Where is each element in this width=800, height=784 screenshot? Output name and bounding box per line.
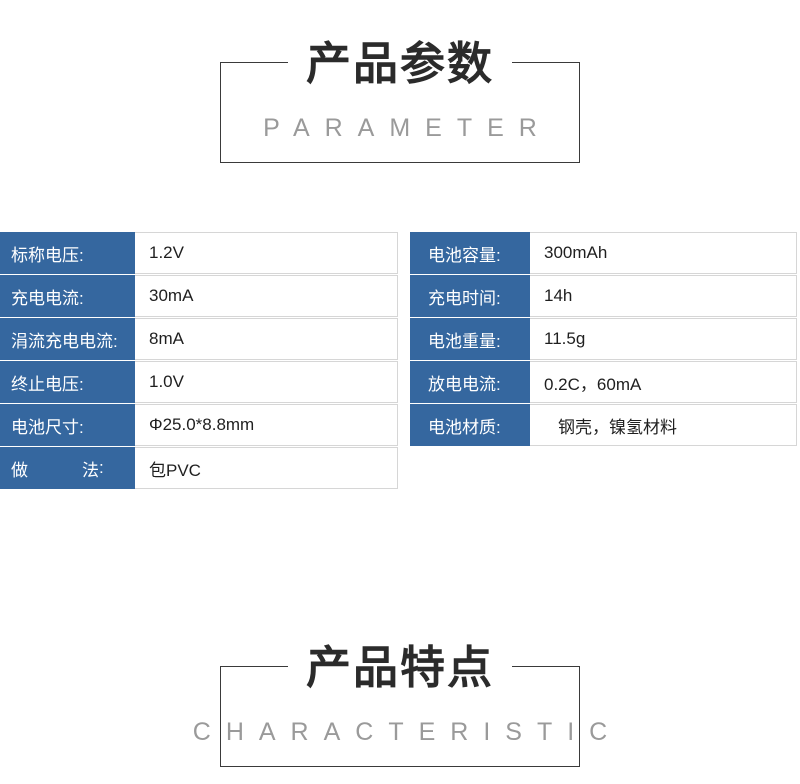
parameter-label: 放电电流: [410, 361, 530, 403]
parameter-label: 终止电压: [0, 361, 135, 403]
parameter-label: 电池尺寸: [0, 404, 135, 446]
characteristic-section-subtitle: CHARACTERISTIC [0, 716, 800, 748]
parameter-label: 充电时间: [410, 275, 530, 317]
parameter-pair-left: 做法: 包PVC [0, 447, 398, 489]
parameter-pair-left: 涓流充电电流: 8mA [0, 318, 398, 360]
table-row: 终止电压: 1.0V 放电电流: 0.2C，60mA [0, 361, 800, 403]
table-row: 充电电流: 30mA 充电时间: 14h [0, 275, 800, 317]
parameter-label: 做法: [0, 447, 135, 489]
parameter-value: 1.0V [135, 361, 398, 403]
table-row: 做法: 包PVC [0, 447, 800, 489]
parameter-pair-right: 电池容量: 300mAh [410, 232, 797, 274]
parameter-label: 电池材质: [410, 404, 530, 446]
parameter-pair-right: 放电电流: 0.2C，60mA [410, 361, 797, 403]
parameter-value: 0.2C，60mA [530, 361, 797, 403]
parameter-pair-left: 标称电压: 1.2V [0, 232, 398, 274]
parameter-value: 14h [530, 275, 797, 317]
parameter-value: 1.2V [135, 232, 398, 274]
parameter-pair-right: 电池重量: 11.5g [410, 318, 797, 360]
parameter-pair-right: 电池材质: 钢壳，镍氢材料 [410, 404, 797, 446]
parameter-value: 11.5g [530, 318, 797, 360]
parameter-section-header: 产品参数 PARAMETER [0, 0, 800, 180]
parameter-label: 电池容量: [410, 232, 530, 274]
parameter-value: 8mA [135, 318, 398, 360]
parameter-pair-left: 电池尺寸: Φ25.0*8.8mm [0, 404, 398, 446]
parameter-label: 充电电流: [0, 275, 135, 317]
parameter-value: 30mA [135, 275, 398, 317]
table-row: 电池尺寸: Φ25.0*8.8mm 电池材质: 钢壳，镍氢材料 [0, 404, 800, 446]
parameter-value: 300mAh [530, 232, 797, 274]
parameter-value: 包PVC [135, 447, 398, 489]
parameter-pair-left: 充电电流: 30mA [0, 275, 398, 317]
parameter-value: Φ25.0*8.8mm [135, 404, 398, 446]
characteristic-section-title: 产品特点 [0, 640, 800, 696]
parameter-table: 标称电压: 1.2V 电池容量: 300mAh 充电电流: 30mA 充电时间:… [0, 232, 800, 490]
table-row: 标称电压: 1.2V 电池容量: 300mAh [0, 232, 800, 274]
parameter-section-subtitle: PARAMETER [0, 112, 800, 144]
parameter-pair-left: 终止电压: 1.0V [0, 361, 398, 403]
characteristic-section-header: 产品特点 CHARACTERISTIC [0, 604, 800, 784]
parameter-label: 涓流充电电流: [0, 318, 135, 360]
parameter-section-title: 产品参数 [0, 36, 800, 92]
parameter-label: 电池重量: [410, 318, 530, 360]
parameter-value: 钢壳，镍氢材料 [530, 404, 797, 446]
parameter-label-core: 做法 [11, 456, 99, 481]
parameter-label: 标称电压: [0, 232, 135, 274]
parameter-pair-right: 充电时间: 14h [410, 275, 797, 317]
table-row: 涓流充电电流: 8mA 电池重量: 11.5g [0, 318, 800, 360]
